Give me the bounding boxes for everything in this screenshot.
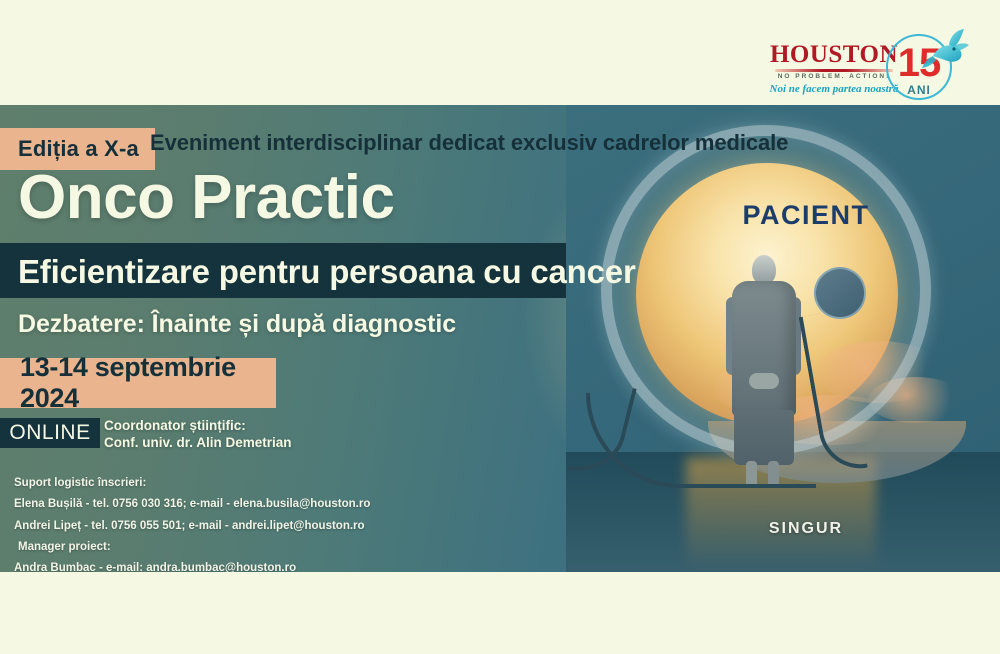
page-title: Onco Practic (18, 167, 394, 229)
online-badge: ONLINE (0, 418, 100, 448)
alone-label: SINGUR (676, 520, 936, 538)
coordinator-label: Coordonator științific: (104, 417, 292, 434)
figure-hands (749, 373, 779, 389)
houston-slogan: Noi ne facem partea noastră (768, 83, 900, 95)
contact-line-3: Andra Bumbac - e-mail: andra.bumbac@hous… (14, 558, 370, 572)
coordinator-name: Conf. univ. dr. Alin Demetrian (104, 434, 292, 451)
debate-text: Dezbatere: Înainte și după diagnostic (18, 310, 456, 339)
online-label: ONLINE (9, 421, 90, 445)
poster-root: HOUSTON NO PROBLEM. ACTION! Noi ne facem… (0, 0, 1000, 654)
date-badge: 13-14 septembrie 2024 (0, 358, 276, 408)
manager-label: Manager proiect: (14, 537, 370, 558)
patient-label: PACIENT (686, 200, 926, 231)
coordinator-block: Coordonator științific: Conf. univ. dr. … (104, 417, 292, 452)
event-description: Eveniment interdisciplinar dedicat exclu… (150, 130, 788, 156)
houston-tagline: NO PROBLEM. ACTION! (768, 73, 900, 80)
anniversary-badge: 15 ANI (886, 26, 966, 106)
logo-strip: HOUSTON NO PROBLEM. ACTION! Noi ne facem… (0, 0, 1000, 105)
hummingbird-icon (919, 26, 971, 78)
event-banner: PACIENT SINGUR Ediția a X-a Eveniment in… (0, 105, 1000, 572)
contacts-block: Suport logistic înscrieri: Elena Bușilă … (14, 473, 370, 572)
contact-line-1: Elena Bușilă - tel. 0756 030 316; e-mail… (14, 494, 370, 515)
houston-divider (775, 69, 893, 72)
contact-line-2: Andrei Lipeț - tel. 0756 055 501; e-mail… (14, 516, 370, 537)
patient-artwork: PACIENT SINGUR (566, 105, 1000, 572)
subtitle-text: Eficientizare pentru persoana cu cancer (18, 253, 636, 291)
houston-brand-text: HOUSTON (768, 42, 900, 67)
support-label: Suport logistic înscrieri: (14, 473, 370, 494)
date-text: 13-14 septembrie 2024 (20, 352, 276, 414)
anniversary-label: ANI (892, 83, 946, 97)
houston-logo: HOUSTON NO PROBLEM. ACTION! Noi ne facem… (768, 42, 900, 95)
